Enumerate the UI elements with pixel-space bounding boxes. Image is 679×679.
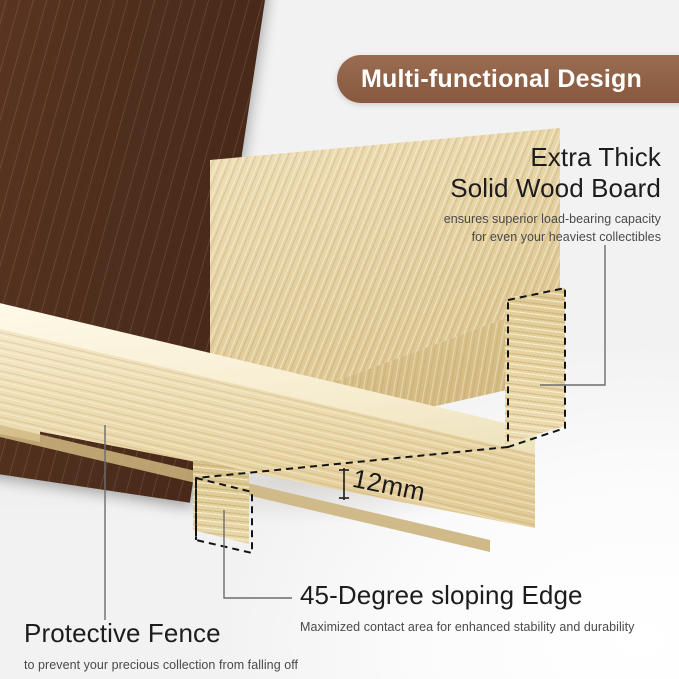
callout-protective-fence: Protective Fence to prevent your preciou… (24, 618, 298, 674)
header-banner-label: Multi-functional Design (361, 65, 642, 94)
callout-subtitle: ensures superior load-bearing capacity f… (444, 210, 661, 246)
product-infographic: 12mm Multi-functional Design Extra Thick… (0, 0, 679, 679)
callout-sloping-edge: 45-Degree sloping Edge Maximized contact… (300, 580, 634, 636)
callout-title-line2: Solid Wood Board (444, 173, 661, 204)
callout-subtitle-line1: ensures superior load-bearing capacity (444, 210, 661, 228)
callout-title-line1: Extra Thick (444, 142, 661, 173)
callout-subtitle-line2: for even your heaviest collectibles (444, 228, 661, 246)
callout-subtitle-line1: to prevent your precious collection from… (24, 656, 298, 674)
callout-solid-wood-board: Extra Thick Solid Wood Board ensures sup… (444, 142, 661, 247)
header-banner: Multi-functional Design (337, 55, 679, 103)
callout-title-line1: Protective Fence (24, 618, 298, 649)
callout-title-line1: 45-Degree sloping Edge (300, 580, 634, 611)
callout-subtitle-line1: Maximized contact area for enhanced stab… (300, 618, 634, 636)
